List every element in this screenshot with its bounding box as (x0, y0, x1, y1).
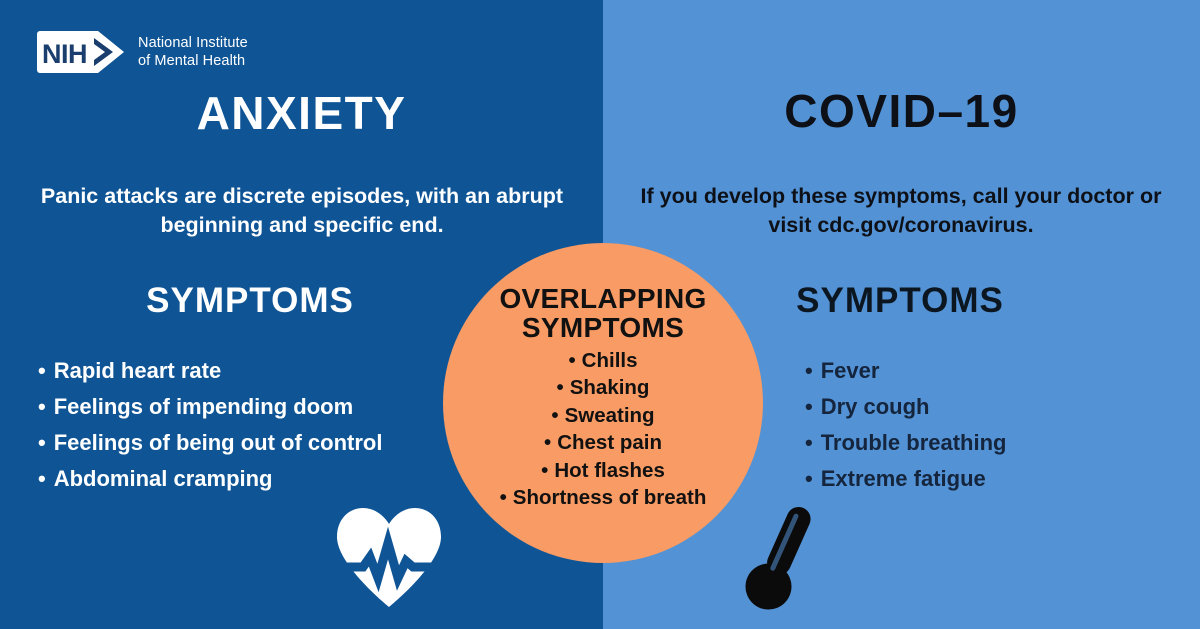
overlapping-symptoms-list: Chills Shaking Sweating Chest pain Hot f… (443, 351, 763, 509)
anxiety-description: Panic attacks are discrete episodes, wit… (22, 182, 582, 240)
covid-symptoms-list: Fever Dry cough Trouble breathing Extrem… (805, 360, 1007, 504)
list-item: Sweating (443, 406, 763, 427)
list-item: Trouble breathing (805, 432, 1007, 454)
covid-title: COVID–19 (603, 88, 1200, 134)
anxiety-symptoms-list: Rapid heart rate Feelings of impending d… (38, 360, 382, 504)
anxiety-title: ANXIETY (0, 90, 603, 136)
nih-logo: NIH National Institute of Mental Health (36, 27, 248, 77)
overlapping-symptoms-circle: OVERLAPPING SYMPTOMS Chills Shaking Swea… (443, 243, 763, 563)
list-item: Chills (443, 351, 763, 372)
list-item: Abdominal cramping (38, 468, 382, 490)
svg-text:NIH: NIH (42, 39, 87, 69)
list-item: Shaking (443, 378, 763, 399)
anxiety-covid-infographic: NIH National Institute of Mental Health … (0, 0, 1200, 629)
list-item: Chest pain (443, 433, 763, 454)
list-item: Extreme fatigue (805, 468, 1007, 490)
covid-symptoms-heading: SYMPTOMS (720, 283, 1080, 318)
list-item: Rapid heart rate (38, 360, 382, 382)
heart-pulse-icon (333, 505, 445, 607)
nih-wordmark: National Institute of Mental Health (138, 34, 248, 70)
overlapping-symptoms-title: OVERLAPPING SYMPTOMS (443, 285, 763, 343)
list-item: Feelings of being out of control (38, 432, 382, 454)
thermometer-icon (726, 495, 836, 617)
list-item: Fever (805, 360, 1007, 382)
list-item: Dry cough (805, 396, 1007, 418)
list-item: Hot flashes (443, 461, 763, 482)
covid-description: If you develop these symptoms, call your… (625, 182, 1177, 240)
list-item: Feelings of impending doom (38, 396, 382, 418)
list-item: Shortness of breath (443, 488, 763, 509)
anxiety-symptoms-heading: SYMPTOMS (35, 283, 465, 318)
nih-logo-mark-icon: NIH (36, 27, 128, 77)
